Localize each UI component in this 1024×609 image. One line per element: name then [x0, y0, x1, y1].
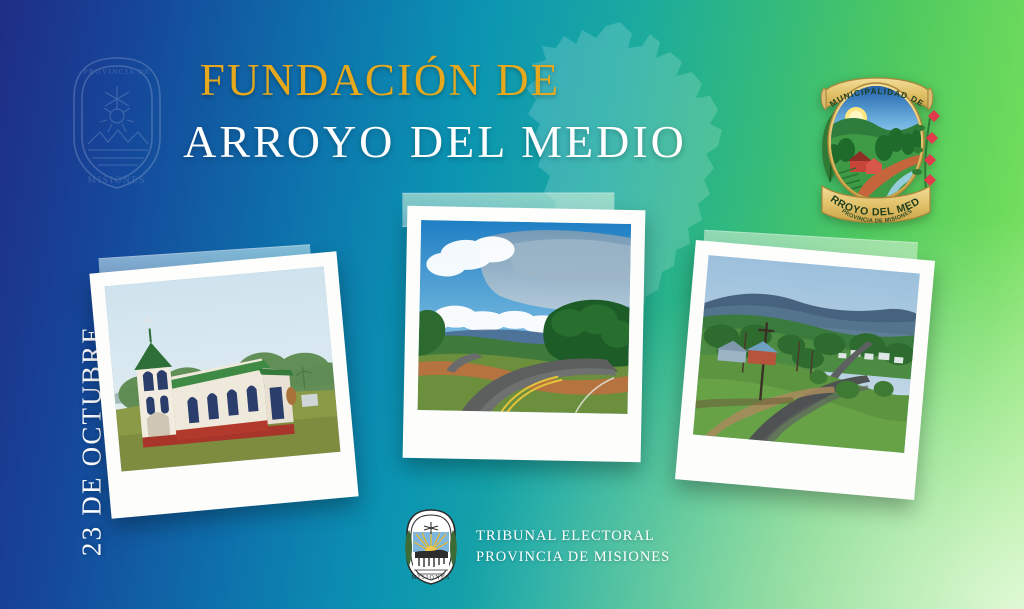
poster-canvas: PROVINCIA DE MISIONES FUNDACIÓN DE ARROY… — [0, 0, 1024, 609]
photo-church — [105, 266, 341, 471]
watermark-bottom-text: MISIONES — [88, 175, 147, 185]
photo-panorama — [693, 255, 920, 453]
footer-text-lines: TRIBUNAL ELECTORAL PROVINCIA DE MISIONES — [476, 526, 670, 567]
headline-top: FUNDACIÓN DE — [0, 54, 760, 106]
headline-block: FUNDACIÓN DE ARROYO DEL MEDIO — [0, 54, 760, 168]
polaroid-photo-church[interactable] — [89, 251, 358, 518]
municipal-coat-of-arms: MUNICIPALIDAD DE ARROYO DEL MEDIO PROVIN… — [800, 56, 952, 232]
polaroid-photo-panorama[interactable] — [675, 240, 935, 500]
footer-line-2: PROVINCIA DE MISIONES — [476, 547, 670, 568]
tribunal-shield-bottom-text: MISIONES — [411, 575, 451, 581]
photo-road — [418, 220, 632, 414]
footer-line-1: TRIBUNAL ELECTORAL — [476, 526, 670, 547]
polaroid-photo-road[interactable] — [403, 206, 646, 463]
headline-main: ARROYO DEL MEDIO — [0, 115, 760, 168]
tribunal-shield-icon: MISIONES — [400, 508, 462, 586]
footer-branding: MISIONES TRIBUNAL ELECTORAL PROVINCIA DE… — [400, 508, 670, 586]
